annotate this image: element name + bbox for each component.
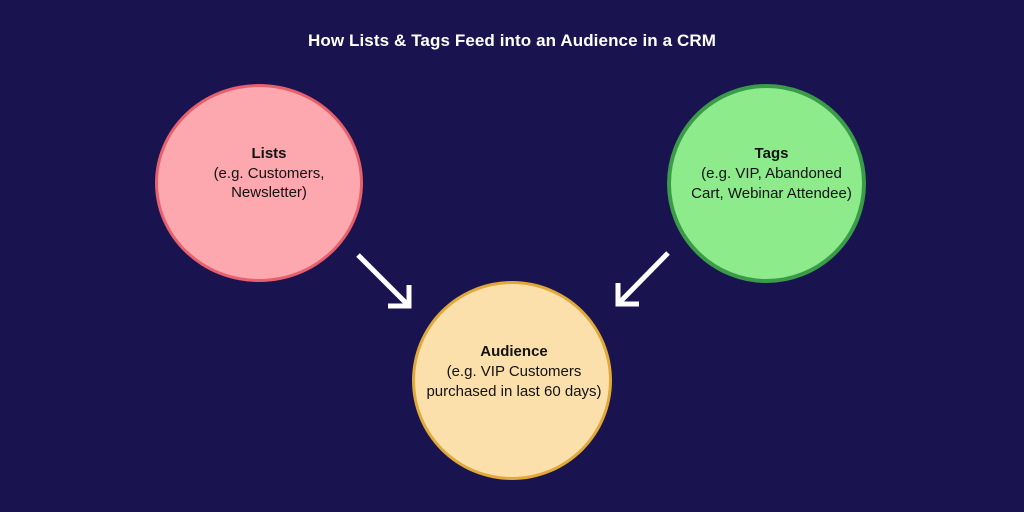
node-tags-desc-line1: (e.g. VIP, Abandoned <box>691 164 852 184</box>
node-lists-title: Lists <box>214 144 325 164</box>
arrow-tags-to-audience <box>618 253 668 304</box>
node-audience-desc-line1: (e.g. VIP Customers <box>426 362 601 382</box>
arrow-lists-to-audience <box>358 255 409 306</box>
node-audience-text: Audience (e.g. VIP Customers purchased i… <box>426 342 601 401</box>
node-lists-desc-line2: Newsletter) <box>214 183 325 203</box>
node-lists-desc-line1: (e.g. Customers, <box>214 164 325 184</box>
node-tags-title: Tags <box>691 144 852 164</box>
node-audience-title: Audience <box>426 342 601 362</box>
node-audience-desc-line2: purchased in last 60 days) <box>426 382 601 402</box>
node-tags[interactable]: Tags (e.g. VIP, Abandoned Cart, Webinar … <box>667 84 866 283</box>
page-title: How Lists & Tags Feed into an Audience i… <box>0 31 1024 51</box>
node-tags-desc-line2: Cart, Webinar Attendee) <box>691 184 852 204</box>
node-audience[interactable]: Audience (e.g. VIP Customers purchased i… <box>412 281 612 480</box>
node-lists-text: Lists (e.g. Customers, Newsletter) <box>214 144 325 203</box>
node-tags-text: Tags (e.g. VIP, Abandoned Cart, Webinar … <box>691 144 852 203</box>
node-lists[interactable]: Lists (e.g. Customers, Newsletter) <box>155 84 363 282</box>
diagram-canvas: How Lists & Tags Feed into an Audience i… <box>0 0 1024 512</box>
